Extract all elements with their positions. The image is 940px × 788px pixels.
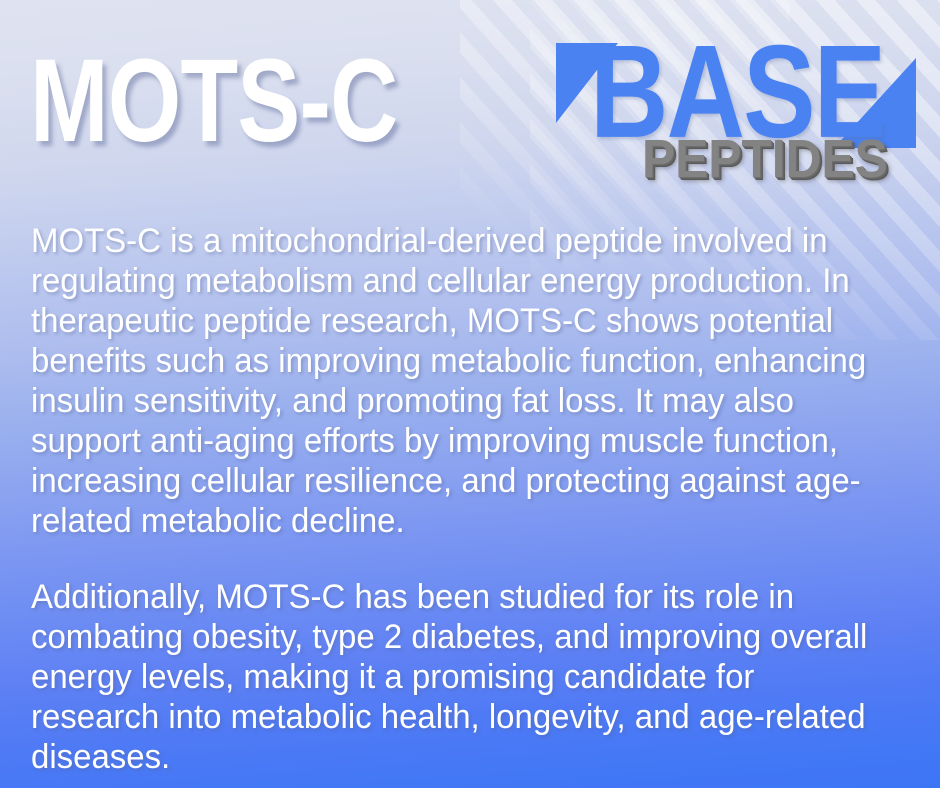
paragraph-2: Additionally, MOTS-C has been studied fo…	[31, 577, 886, 777]
paragraph-1: MOTS-C is a mitochondrial-derived peptid…	[31, 221, 886, 541]
description-text: MOTS-C is a mitochondrial-derived peptid…	[31, 221, 886, 777]
page-title: MOTS-C	[30, 42, 398, 160]
brand-logo: BASE PEPTIDES	[538, 18, 918, 183]
peptide-info-poster: MOTS-C BASE PEPTIDES MOTS-C is a mitocho…	[0, 0, 940, 788]
brand-name-secondary: PEPTIDES	[642, 132, 888, 186]
